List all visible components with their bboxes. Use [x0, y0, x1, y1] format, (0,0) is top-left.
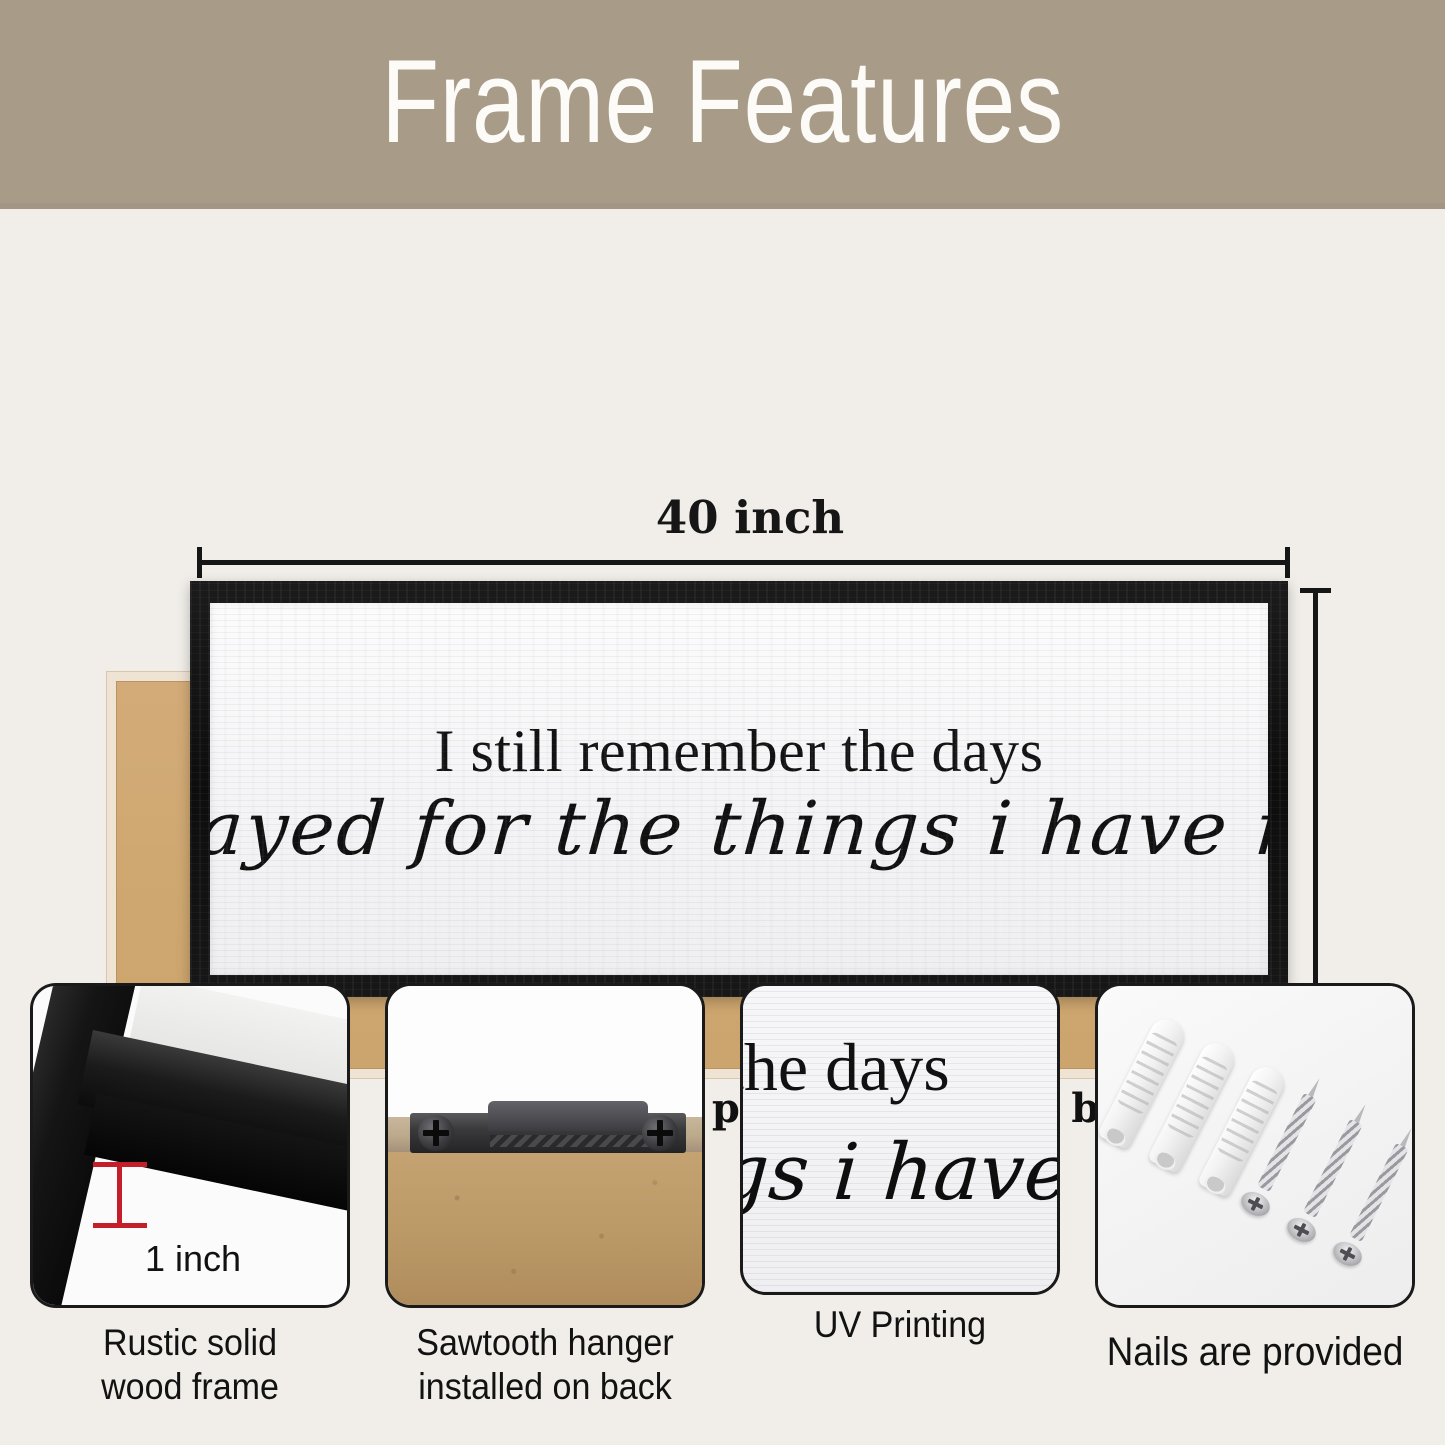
card3-caption-line1: UV Printing: [738, 1303, 1062, 1347]
sign-face: I still remember the days i prayed for t…: [210, 603, 1268, 975]
card-image-nails-and-anchors: [1095, 983, 1415, 1308]
sawtooth-hanger-icon: [410, 1113, 686, 1153]
card-image-uv-printing: the days gs i have: [740, 983, 1060, 1295]
framed-sign: I still remember the days i prayed for t…: [190, 581, 1288, 997]
page-header: Frame Features: [0, 0, 1445, 209]
screw-head-icon-left: [418, 1115, 454, 1151]
card-image-frame-corner: 1 inch: [30, 983, 350, 1308]
card1-caption: Rustic solid wood frame: [24, 1321, 355, 1408]
height-dimension-line: [1313, 588, 1318, 999]
thickness-marker-stem: [117, 1162, 122, 1228]
thickness-marker-bottom-cap: [93, 1223, 147, 1228]
card2-caption-line1: Sawtooth hanger: [372, 1321, 718, 1365]
screw-head-icon-right: [642, 1115, 678, 1151]
card4-caption-line1: Nails are provided: [1084, 1329, 1426, 1376]
width-dimension-label: 40 inch: [560, 491, 940, 544]
width-dimension-cap-left: [197, 547, 202, 578]
card3-caption: UV Printing: [738, 1303, 1062, 1347]
card2-caption-line2: installed on back: [372, 1365, 718, 1409]
sawtooth-hanger-teeth: [490, 1135, 650, 1147]
card3-sign-closeup: the days gs i have: [743, 986, 1057, 1292]
hero-product-area: 40 inch 15 inch I still remember the day…: [0, 209, 1445, 979]
card1-caption-line2: wood frame: [24, 1365, 355, 1409]
card3-crop-text-bottom: gs i have: [743, 1128, 1057, 1218]
width-dimension-line: [197, 560, 1290, 565]
page-title: Frame Features: [381, 43, 1064, 161]
sign-text-line2: i prayed for the things i have now: [210, 786, 1268, 872]
feature-card-row: 1 inch Rustic solid wood frame Sawtooth …: [0, 978, 1445, 1445]
thickness-label: 1 inch: [33, 1238, 350, 1280]
card4-caption: Nails are provided: [1084, 1329, 1426, 1376]
card1-caption-line1: Rustic solid: [24, 1321, 355, 1365]
sign-text-line1: I still remember the days: [435, 717, 1044, 786]
height-dimension-cap-top: [1300, 588, 1331, 593]
width-dimension-cap-right: [1285, 547, 1290, 578]
card4-background: [1098, 986, 1412, 1305]
card2-mdf-board: [388, 1152, 702, 1305]
card2-caption: Sawtooth hanger installed on back: [372, 1321, 718, 1408]
thickness-marker-icon: [91, 1162, 147, 1228]
sawtooth-hanger-hump: [488, 1101, 648, 1131]
card3-crop-text-top: the days: [743, 1028, 950, 1107]
card-image-sawtooth-hanger: [385, 983, 705, 1308]
